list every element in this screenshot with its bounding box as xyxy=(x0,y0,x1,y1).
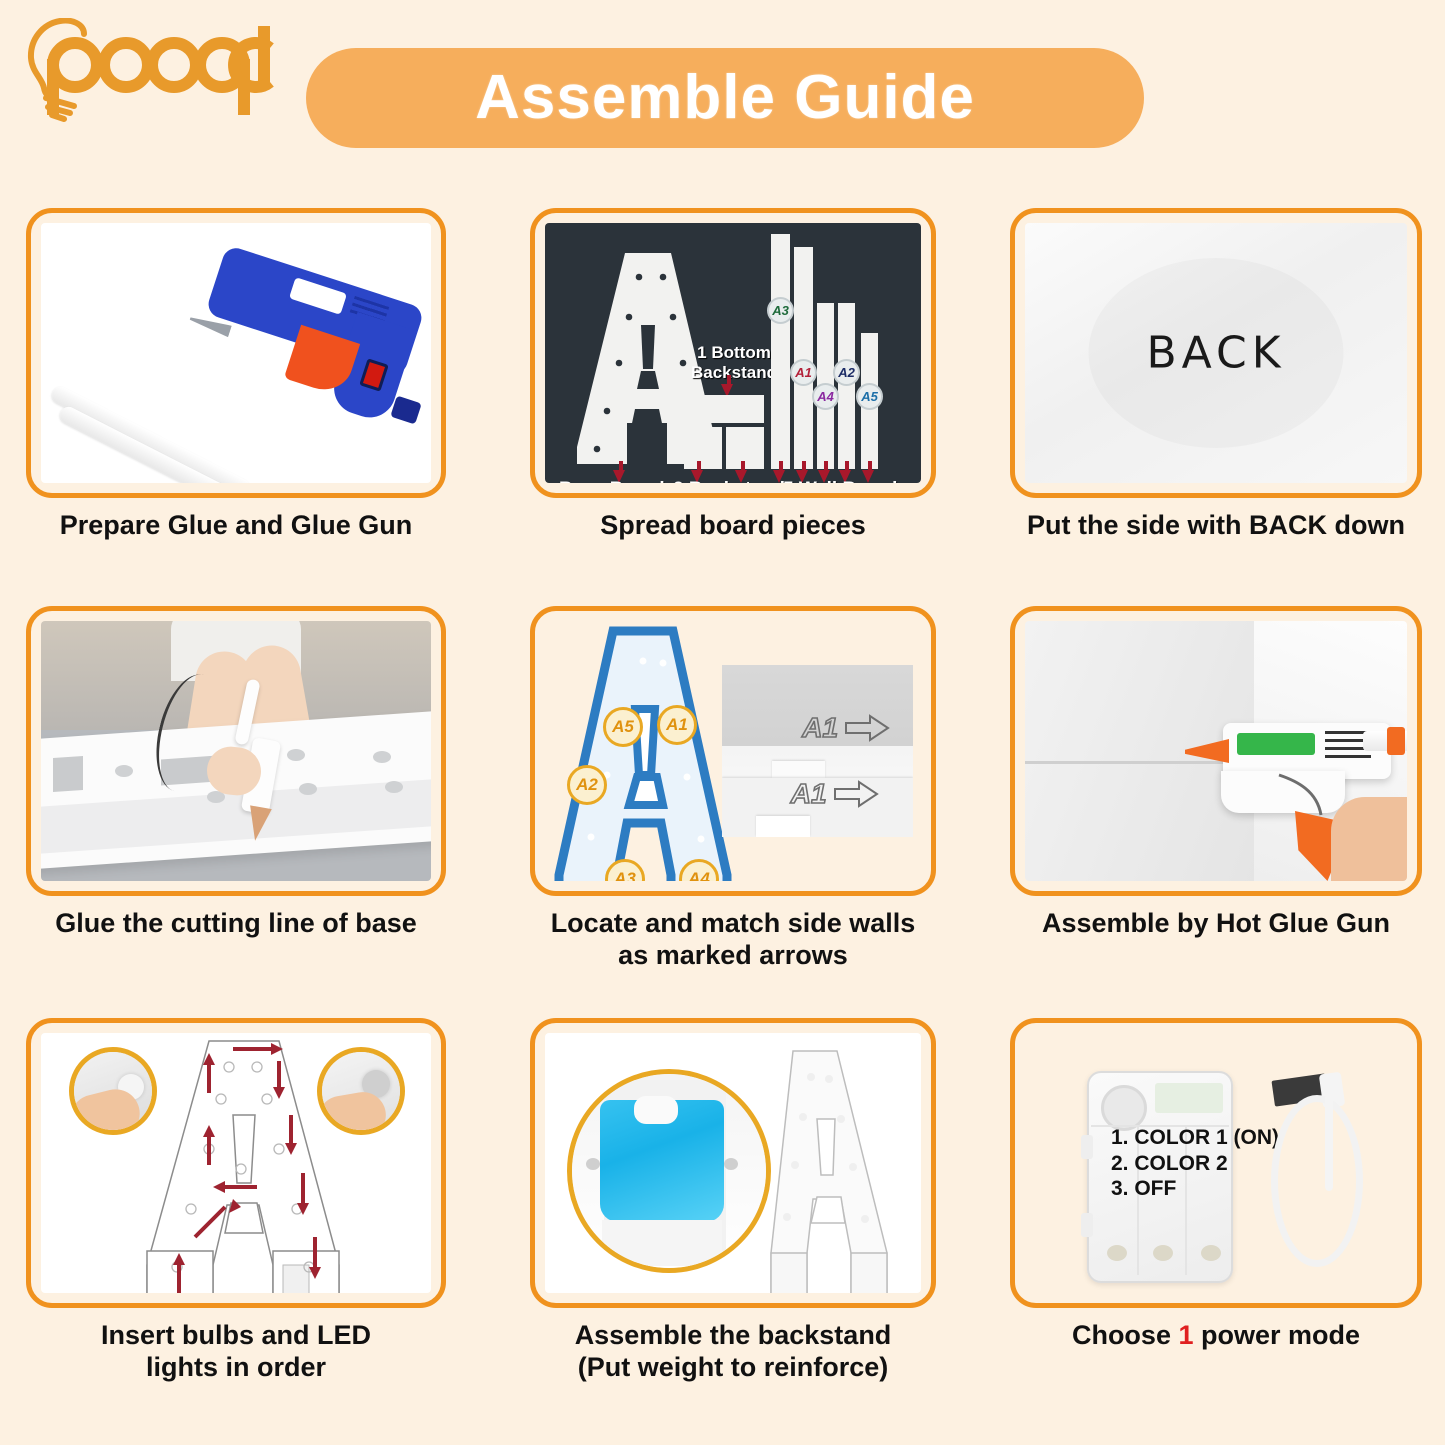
back-label: BACK xyxy=(1146,328,1285,379)
lightbulb-icon xyxy=(22,18,284,128)
badge-a5: A5 xyxy=(856,383,883,410)
page-header: Assemble Guide xyxy=(0,0,1445,178)
step-8-caption: Assemble the backstand (Put weight to re… xyxy=(530,1320,936,1384)
arrow-right-icon xyxy=(844,714,890,742)
step-7-caption-line1: Insert bulbs and LED xyxy=(101,1320,371,1350)
letter-badge-a2: A2 xyxy=(567,765,607,805)
side-wall-photo: A1 A1 xyxy=(722,665,914,837)
step-card-7: Insert bulbs and LED lights in order xyxy=(26,1018,446,1384)
assemble-guide-banner: Assemble Guide xyxy=(306,48,1144,148)
backstand-piece-bottom-2 xyxy=(726,427,764,469)
step-3-caption: Put the side with BACK down xyxy=(1010,510,1422,542)
step-card-9: 1. COLOR 1 (ON) 2. COLOR 2 3. OFF Choose… xyxy=(1010,1018,1422,1352)
base-board-label: Base Board xyxy=(559,479,665,483)
step-9-caption-pre: Choose xyxy=(1072,1320,1179,1350)
step-6-caption: Assemble by Hot Glue Gun xyxy=(1010,908,1422,940)
step-card-2: 1 BottomBackstand A3 A1 A4 xyxy=(530,208,936,542)
step-4-image xyxy=(26,606,446,896)
inset-water-bag-photo xyxy=(567,1069,771,1273)
step-5-image: A5 A1 A2 A3 A4 A1 xyxy=(530,606,936,896)
hand xyxy=(1331,797,1407,881)
wall-board-a2 xyxy=(838,303,855,469)
step-8-caption-line1: Assemble the backstand xyxy=(575,1320,892,1350)
step-card-4: Glue the cutting line of base xyxy=(26,606,446,940)
wall-board-a1 xyxy=(794,247,813,469)
backstands-label: 2 Backstands xyxy=(673,479,796,483)
step-card-5: A5 A1 A2 A3 A4 A1 xyxy=(530,606,936,972)
page-title: Assemble Guide xyxy=(475,67,975,129)
step-5-caption-line2: as marked arrows xyxy=(618,940,848,970)
badge-a2: A2 xyxy=(833,359,860,386)
step-9-caption-accent: 1 xyxy=(1178,1320,1193,1350)
steps-grid: Prepare Glue and Glue Gun xyxy=(0,178,1445,1445)
step-card-1: Prepare Glue and Glue Gun xyxy=(26,208,446,542)
mark-a1-upper: A1 xyxy=(802,712,890,744)
step-card-8: Assemble the backstand (Put weight to re… xyxy=(530,1018,936,1384)
step-card-3: BACK Put the side with BACK down xyxy=(1010,208,1422,542)
step-1-image xyxy=(26,208,446,498)
gun-wire-stand-icon xyxy=(1277,773,1337,819)
inset-bulb-photo xyxy=(69,1047,157,1135)
step-card-6: Assemble by Hot Glue Gun xyxy=(1010,606,1422,940)
step-9-caption-post: power mode xyxy=(1194,1320,1361,1350)
letter-badge-a1: A1 xyxy=(657,705,697,745)
step-4-caption: Glue the cutting line of base xyxy=(26,908,446,940)
backstand-piece-top xyxy=(684,395,764,423)
board-pieces-scene: 1 BottomBackstand A3 A1 A4 xyxy=(545,223,921,483)
step-3-image: BACK xyxy=(1010,208,1422,498)
step-2-caption: Spread board pieces xyxy=(530,510,936,542)
step-7-caption-line2: lights in order xyxy=(146,1352,326,1382)
badge-a3: A3 xyxy=(767,297,794,324)
letter-a-backstand xyxy=(755,1047,907,1293)
badge-a4: A4 xyxy=(812,383,839,410)
step-6-image xyxy=(1010,606,1422,896)
letter-a-outline xyxy=(551,625,733,881)
step-7-image xyxy=(26,1018,446,1308)
letter-badge-a5-top: A5 xyxy=(603,707,643,747)
step-5-caption-line1: Locate and match side walls xyxy=(551,908,916,938)
green-label xyxy=(1237,733,1315,755)
hot-glue-gun-photo xyxy=(1025,621,1407,881)
step-8-caption-line2: (Put weight to reinforce) xyxy=(578,1352,889,1382)
wall-board-a3 xyxy=(771,234,790,469)
mark-a1-lower: A1 xyxy=(791,778,879,810)
step-2-image: 1 BottomBackstand A3 A1 A4 xyxy=(530,208,936,498)
arrow-right-icon xyxy=(833,780,879,808)
step-5-caption: Locate and match side walls as marked ar… xyxy=(530,908,936,972)
backstand-piece-bottom-1 xyxy=(684,427,722,469)
step-9-image: 1. COLOR 1 (ON) 2. COLOR 2 3. OFF xyxy=(1010,1018,1422,1308)
gluing-base-photo xyxy=(41,621,431,881)
wall-boards-label: 5 Wall Boards xyxy=(783,479,908,483)
power-mode-list: 1. COLOR 1 (ON) 2. COLOR 2 3. OFF xyxy=(1111,1125,1279,1202)
step-7-caption: Insert bulbs and LED lights in order xyxy=(26,1320,446,1384)
step-9-caption: Choose 1 power mode xyxy=(1010,1320,1422,1352)
badge-a1: A1 xyxy=(790,359,817,386)
brand-logo xyxy=(22,18,284,128)
step-8-image xyxy=(530,1018,936,1308)
inset-led-photo xyxy=(317,1047,405,1135)
step-1-caption: Prepare Glue and Glue Gun xyxy=(26,510,446,542)
